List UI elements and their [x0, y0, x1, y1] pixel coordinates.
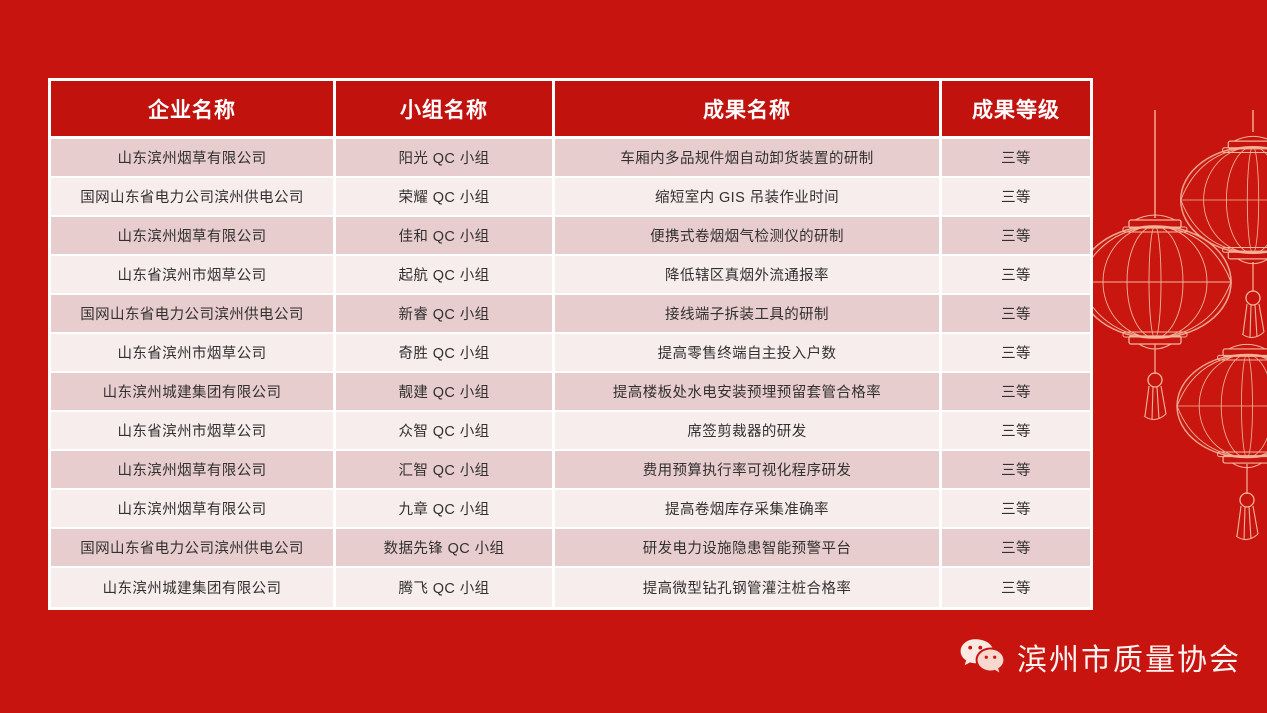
cell-company: 山东省滨州市烟草公司: [51, 256, 336, 295]
cell-result: 车厢内多品规件烟自动卸货装置的研制: [555, 139, 942, 178]
cell-company: 国网山东省电力公司滨州供电公司: [51, 295, 336, 334]
column-header-team: 小组名称: [336, 81, 555, 139]
cell-company: 国网山东省电力公司滨州供电公司: [51, 529, 336, 568]
table-body: 山东滨州烟草有限公司阳光 QC 小组车厢内多品规件烟自动卸货装置的研制三等国网山…: [51, 139, 1090, 607]
cell-team: 新睿 QC 小组: [336, 295, 555, 334]
cell-company: 山东省滨州市烟草公司: [51, 334, 336, 373]
cell-result: 接线端子拆装工具的研制: [555, 295, 942, 334]
table-row: 山东滨州烟草有限公司佳和 QC 小组便携式卷烟烟气检测仪的研制三等: [51, 217, 1090, 256]
cell-grade: 三等: [942, 568, 1090, 607]
cell-grade: 三等: [942, 451, 1090, 490]
cell-result: 研发电力设施隐患智能预警平台: [555, 529, 942, 568]
cell-company: 山东滨州城建集团有限公司: [51, 373, 336, 412]
cell-result: 便携式卷烟烟气检测仪的研制: [555, 217, 942, 256]
cell-result: 提高卷烟库存采集准确率: [555, 490, 942, 529]
cell-grade: 三等: [942, 256, 1090, 295]
results-table: 企业名称 小组名称 成果名称 成果等级 山东滨州烟草有限公司阳光 QC 小组车厢…: [51, 81, 1090, 607]
cell-result: 提高楼板处水电安装预埋预留套管合格率: [555, 373, 942, 412]
cell-grade: 三等: [942, 490, 1090, 529]
cell-team: 靓建 QC 小组: [336, 373, 555, 412]
cell-team: 佳和 QC 小组: [336, 217, 555, 256]
table-row: 山东省滨州市烟草公司起航 QC 小组降低辖区真烟外流通报率三等: [51, 256, 1090, 295]
table-row: 国网山东省电力公司滨州供电公司荣耀 QC 小组缩短室内 GIS 吊装作业时间三等: [51, 178, 1090, 217]
table-row: 山东滨州城建集团有限公司靓建 QC 小组提高楼板处水电安装预埋预留套管合格率三等: [51, 373, 1090, 412]
cell-grade: 三等: [942, 178, 1090, 217]
table-row: 国网山东省电力公司滨州供电公司数据先锋 QC 小组研发电力设施隐患智能预警平台三…: [51, 529, 1090, 568]
cell-team: 奇胜 QC 小组: [336, 334, 555, 373]
cell-company: 山东滨州烟草有限公司: [51, 451, 336, 490]
table-row: 山东省滨州市烟草公司众智 QC 小组席签剪裁器的研发三等: [51, 412, 1090, 451]
wechat-icon: [959, 637, 1005, 677]
table-row: 山东滨州烟草有限公司汇智 QC 小组费用预算执行率可视化程序研发三等: [51, 451, 1090, 490]
cell-company: 山东滨州烟草有限公司: [51, 139, 336, 178]
cell-company: 山东省滨州市烟草公司: [51, 412, 336, 451]
cell-grade: 三等: [942, 139, 1090, 178]
brand-footer: 滨州市质量协会: [959, 635, 1241, 679]
table-header-row: 企业名称 小组名称 成果名称 成果等级: [51, 81, 1090, 139]
cell-team: 汇智 QC 小组: [336, 451, 555, 490]
cell-result: 费用预算执行率可视化程序研发: [555, 451, 942, 490]
cell-team: 起航 QC 小组: [336, 256, 555, 295]
cell-result: 缩短室内 GIS 吊装作业时间: [555, 178, 942, 217]
table-row: 山东滨州城建集团有限公司腾飞 QC 小组提高微型钻孔钢管灌注桩合格率三等: [51, 568, 1090, 607]
column-header-company: 企业名称: [51, 81, 336, 139]
cell-team: 九章 QC 小组: [336, 490, 555, 529]
cell-company: 山东滨州城建集团有限公司: [51, 568, 336, 607]
cell-result: 降低辖区真烟外流通报率: [555, 256, 942, 295]
cell-result: 提高微型钻孔钢管灌注桩合格率: [555, 568, 942, 607]
column-header-grade: 成果等级: [942, 81, 1090, 139]
cell-grade: 三等: [942, 412, 1090, 451]
cell-team: 荣耀 QC 小组: [336, 178, 555, 217]
cell-team: 阳光 QC 小组: [336, 139, 555, 178]
cell-grade: 三等: [942, 295, 1090, 334]
table-row: 山东省滨州市烟草公司奇胜 QC 小组提高零售终端自主投入户数三等: [51, 334, 1090, 373]
cell-company: 山东滨州烟草有限公司: [51, 217, 336, 256]
cell-grade: 三等: [942, 217, 1090, 256]
cell-team: 数据先锋 QC 小组: [336, 529, 555, 568]
brand-label: 滨州市质量协会: [1017, 635, 1241, 679]
column-header-result: 成果名称: [555, 81, 942, 139]
cell-company: 国网山东省电力公司滨州供电公司: [51, 178, 336, 217]
cell-grade: 三等: [942, 529, 1090, 568]
table-row: 山东滨州烟草有限公司阳光 QC 小组车厢内多品规件烟自动卸货装置的研制三等: [51, 139, 1090, 178]
table-row: 山东滨州烟草有限公司九章 QC 小组提高卷烟库存采集准确率三等: [51, 490, 1090, 529]
table-row: 国网山东省电力公司滨州供电公司新睿 QC 小组接线端子拆装工具的研制三等: [51, 295, 1090, 334]
cell-team: 众智 QC 小组: [336, 412, 555, 451]
cell-grade: 三等: [942, 334, 1090, 373]
table-header: 企业名称 小组名称 成果名称 成果等级: [51, 81, 1090, 139]
cell-company: 山东滨州烟草有限公司: [51, 490, 336, 529]
cell-team: 腾飞 QC 小组: [336, 568, 555, 607]
cell-result: 提高零售终端自主投入户数: [555, 334, 942, 373]
cell-grade: 三等: [942, 373, 1090, 412]
awards-results-table: 企业名称 小组名称 成果名称 成果等级 山东滨州烟草有限公司阳光 QC 小组车厢…: [51, 81, 1090, 607]
cell-result: 席签剪裁器的研发: [555, 412, 942, 451]
